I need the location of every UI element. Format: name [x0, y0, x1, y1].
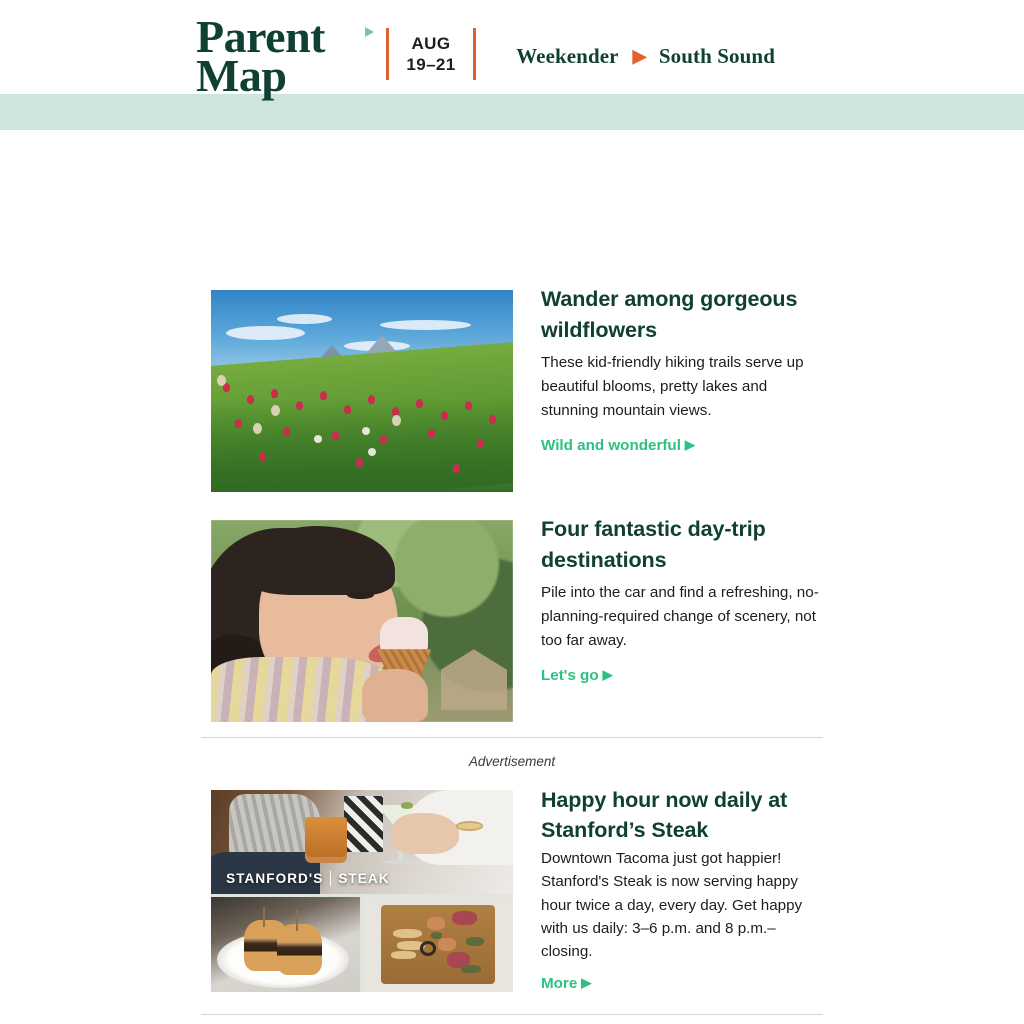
- ice-cream-girl-image: [211, 520, 513, 722]
- issue-day-range: 19–21: [386, 54, 476, 75]
- logo-line-2: Map: [196, 57, 364, 96]
- divider-above-section: [201, 1014, 823, 1015]
- ad-thumbnail[interactable]: STANFORD'S STEAK: [211, 790, 513, 992]
- advertisement-label: Advertisement: [201, 754, 823, 769]
- kicker-region: South Sound: [659, 44, 775, 68]
- story-thumbnail-wildflowers[interactable]: [211, 290, 513, 492]
- ad-brand-lockup: STANFORD'S STEAK: [226, 871, 389, 886]
- newsletter-kicker: Weekender ▶ South Sound: [516, 44, 775, 69]
- story-text-wildflowers: Wander among gorgeous wildflowers These …: [541, 284, 826, 455]
- ad-cta-arrow-icon: ▶: [581, 975, 591, 991]
- kicker-label: Weekender: [516, 44, 618, 68]
- logo-line-1: Parent: [196, 18, 364, 57]
- divider-above-ad: [201, 737, 823, 738]
- story-title: Wander among gorgeous wildflowers: [541, 284, 826, 345]
- story-cta-arrow-icon: ▶: [603, 667, 613, 683]
- story-cta-label: Wild and wonderful: [541, 437, 681, 454]
- story-description: Pile into the car and find a refreshing,…: [541, 581, 826, 653]
- ad-title: Happy hour now daily at Stanford’s Steak: [541, 786, 826, 845]
- story-title: Four fantastic day-trip destinations: [541, 514, 826, 575]
- stanfords-collage-image: STANFORD'S STEAK: [211, 790, 513, 992]
- parentmap-logo[interactable]: Parent Map: [196, 18, 364, 95]
- issue-date-block: AUG 19–21: [386, 28, 476, 80]
- story-thumbnail-daytrips[interactable]: [211, 520, 513, 722]
- ad-cta-label: More: [541, 975, 577, 992]
- issue-date-text: AUG 19–21: [386, 33, 476, 76]
- ad-cta-link[interactable]: More▶: [541, 975, 591, 992]
- ad-brand-left: STANFORD'S: [226, 871, 323, 886]
- masthead: Parent Map AUG 19–21 Weekender ▶ South S…: [0, 0, 1024, 130]
- story-cta-link[interactable]: Wild and wonderful▶: [541, 437, 695, 454]
- wildflower-meadow-image: [211, 290, 513, 492]
- ad-brand-right: STEAK: [338, 871, 389, 886]
- ad-description: Downtown Tacoma just got happier! Stanfo…: [541, 847, 826, 962]
- logo-flag-icon: [365, 27, 374, 37]
- issue-month: AUG: [386, 33, 476, 54]
- story-text-daytrips: Four fantastic day-trip destinations Pil…: [541, 514, 826, 685]
- story-description: These kid-friendly hiking trails serve u…: [541, 351, 826, 423]
- story-cta-label: Let's go: [541, 667, 599, 684]
- story-cta-link[interactable]: Let's go▶: [541, 667, 613, 684]
- story-cta-arrow-icon: ▶: [685, 437, 695, 453]
- kicker-arrow-icon: ▶: [633, 46, 647, 67]
- ad-brand-divider-icon: [330, 871, 331, 886]
- ad-text: Happy hour now daily at Stanford’s Steak…: [541, 786, 826, 993]
- newsletter-page: Parent Map AUG 19–21 Weekender ▶ South S…: [0, 0, 1024, 1024]
